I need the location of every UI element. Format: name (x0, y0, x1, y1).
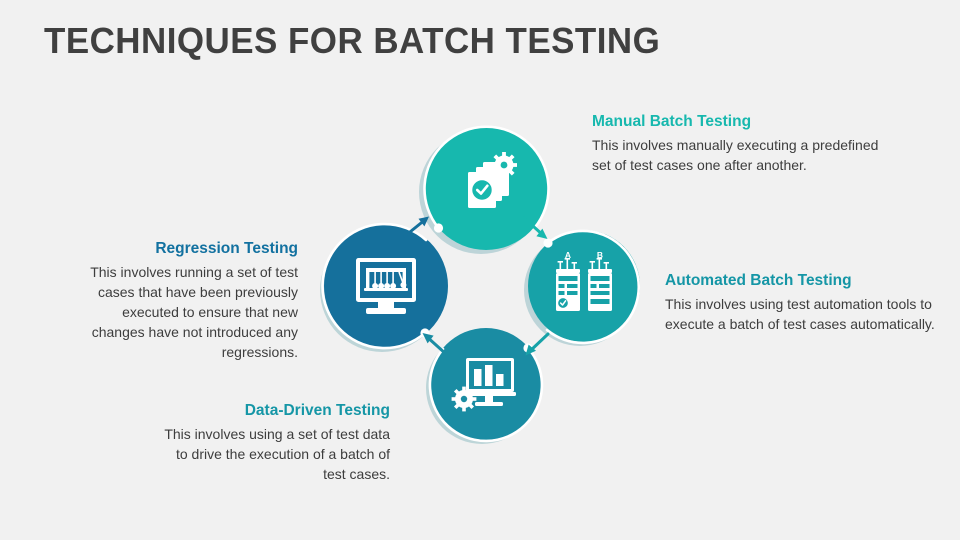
node-automated[interactable]: A (528, 230, 640, 343)
node-automated-arc-dot (543, 238, 552, 247)
heading-manual: Manual Batch Testing (592, 112, 892, 131)
body-automated: This involves using test automation tool… (665, 295, 935, 335)
heading-data-driven: Data-Driven Testing (150, 401, 390, 420)
node-data-driven[interactable] (430, 328, 542, 441)
body-regression: This involves running a set of test case… (70, 263, 298, 362)
node-regression[interactable] (322, 224, 448, 348)
body-data-driven: This involves using a set of test data t… (150, 425, 390, 485)
node-manual[interactable] (424, 126, 549, 250)
node-manual-arc-dot (434, 223, 443, 232)
text-block-automated: Automated Batch Testing This involves us… (665, 271, 935, 335)
text-block-regression: Regression Testing This involves running… (70, 239, 298, 363)
heading-automated: Automated Batch Testing (665, 271, 935, 290)
page-title: TECHNIQUES FOR BATCH TESTING (44, 20, 660, 62)
slide-canvas: TECHNIQUES FOR BATCH TESTING (0, 0, 960, 540)
text-block-data-driven: Data-Driven Testing This involves using … (150, 401, 390, 485)
device-label-a: A (565, 250, 571, 260)
arrow-data-driven-to-regression (423, 333, 447, 354)
text-block-manual: Manual Batch Testing This involves manua… (592, 112, 892, 176)
body-manual: This involves manually executing a prede… (592, 136, 892, 176)
device-label-b: B (597, 250, 603, 260)
heading-regression: Regression Testing (70, 239, 298, 258)
